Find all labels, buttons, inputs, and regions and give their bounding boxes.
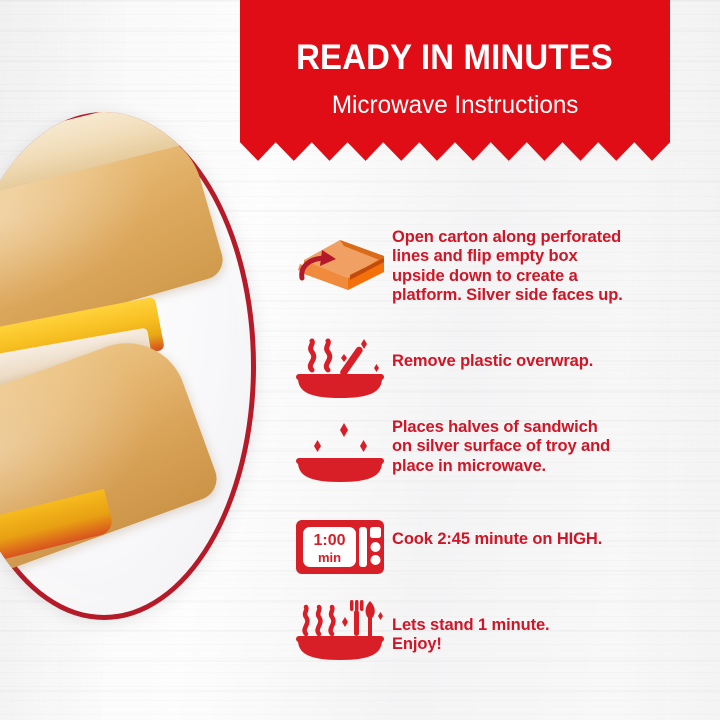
step-2: Remove plastic overwrap. [288, 328, 708, 416]
step-3: Places halves of sandwich on silver surf… [288, 416, 708, 508]
step-4-line-1: Cook 2:45 minute on HIGH. [392, 530, 602, 549]
step-1-text: Open carton along perforated lines and f… [392, 228, 623, 306]
header-banner-content: READY IN MINUTES Microwave Instructions [240, 0, 670, 166]
instruction-steps: Open carton along perforated lines and f… [288, 228, 708, 672]
step-3-text: Places halves of sandwich on silver surf… [392, 416, 610, 476]
bowl-sparkle-icon [294, 422, 386, 484]
sandwich-photo [0, 112, 260, 624]
microwave-unit: min [318, 550, 341, 565]
step-3-line-3: place in microwave. [392, 457, 610, 476]
step-5-line-1: Lets stand 1 minute. [392, 616, 550, 635]
step-5-text: Lets stand 1 minute. Enjoy! [392, 592, 550, 655]
step-5-line-2: Enjoy! [392, 635, 550, 654]
step-2-text: Remove plastic overwrap. [392, 328, 593, 371]
microwave-instructions-infographic: READY IN MINUTES Microwave Instructions [0, 0, 720, 720]
page-subtitle: Microwave Instructions [332, 93, 579, 118]
step-2-icon-slot [288, 328, 392, 400]
page-title: READY IN MINUTES [297, 40, 614, 75]
step-3-icon-slot [288, 416, 392, 484]
step-2-line-1: Remove plastic overwrap. [392, 352, 593, 371]
step-5-icon-slot [288, 592, 392, 662]
step-4-text: Cook 2:45 minute on HIGH. [392, 508, 602, 549]
microwave-icon: 1:00 min [294, 518, 386, 576]
bowl-unwrap-icon [294, 338, 386, 400]
step-1-icon-slot [288, 228, 392, 298]
step-3-line-1: Places halves of sandwich [392, 418, 610, 437]
step-4: 1:00 min Cook 2:45 minute on HIGH. [288, 508, 708, 592]
microwave-time: 1:00 [313, 532, 345, 549]
step-1-line-2: lines and flip empty box [392, 247, 623, 266]
step-5: Lets stand 1 minute. Enjoy! [288, 592, 708, 672]
step-1-line-4: platform. Silver side faces up. [392, 286, 623, 305]
carton-flip-icon [292, 228, 388, 298]
step-1-line-3: upside down to create a [392, 267, 623, 286]
sandwich [0, 112, 256, 620]
step-1-line-1: Open carton along perforated [392, 228, 623, 247]
bowl-cutlery-icon [294, 598, 386, 662]
step-3-line-2: on silver surface of troy and [392, 437, 610, 456]
step-1: Open carton along perforated lines and f… [288, 228, 708, 328]
step-4-icon-slot: 1:00 min [288, 508, 392, 576]
